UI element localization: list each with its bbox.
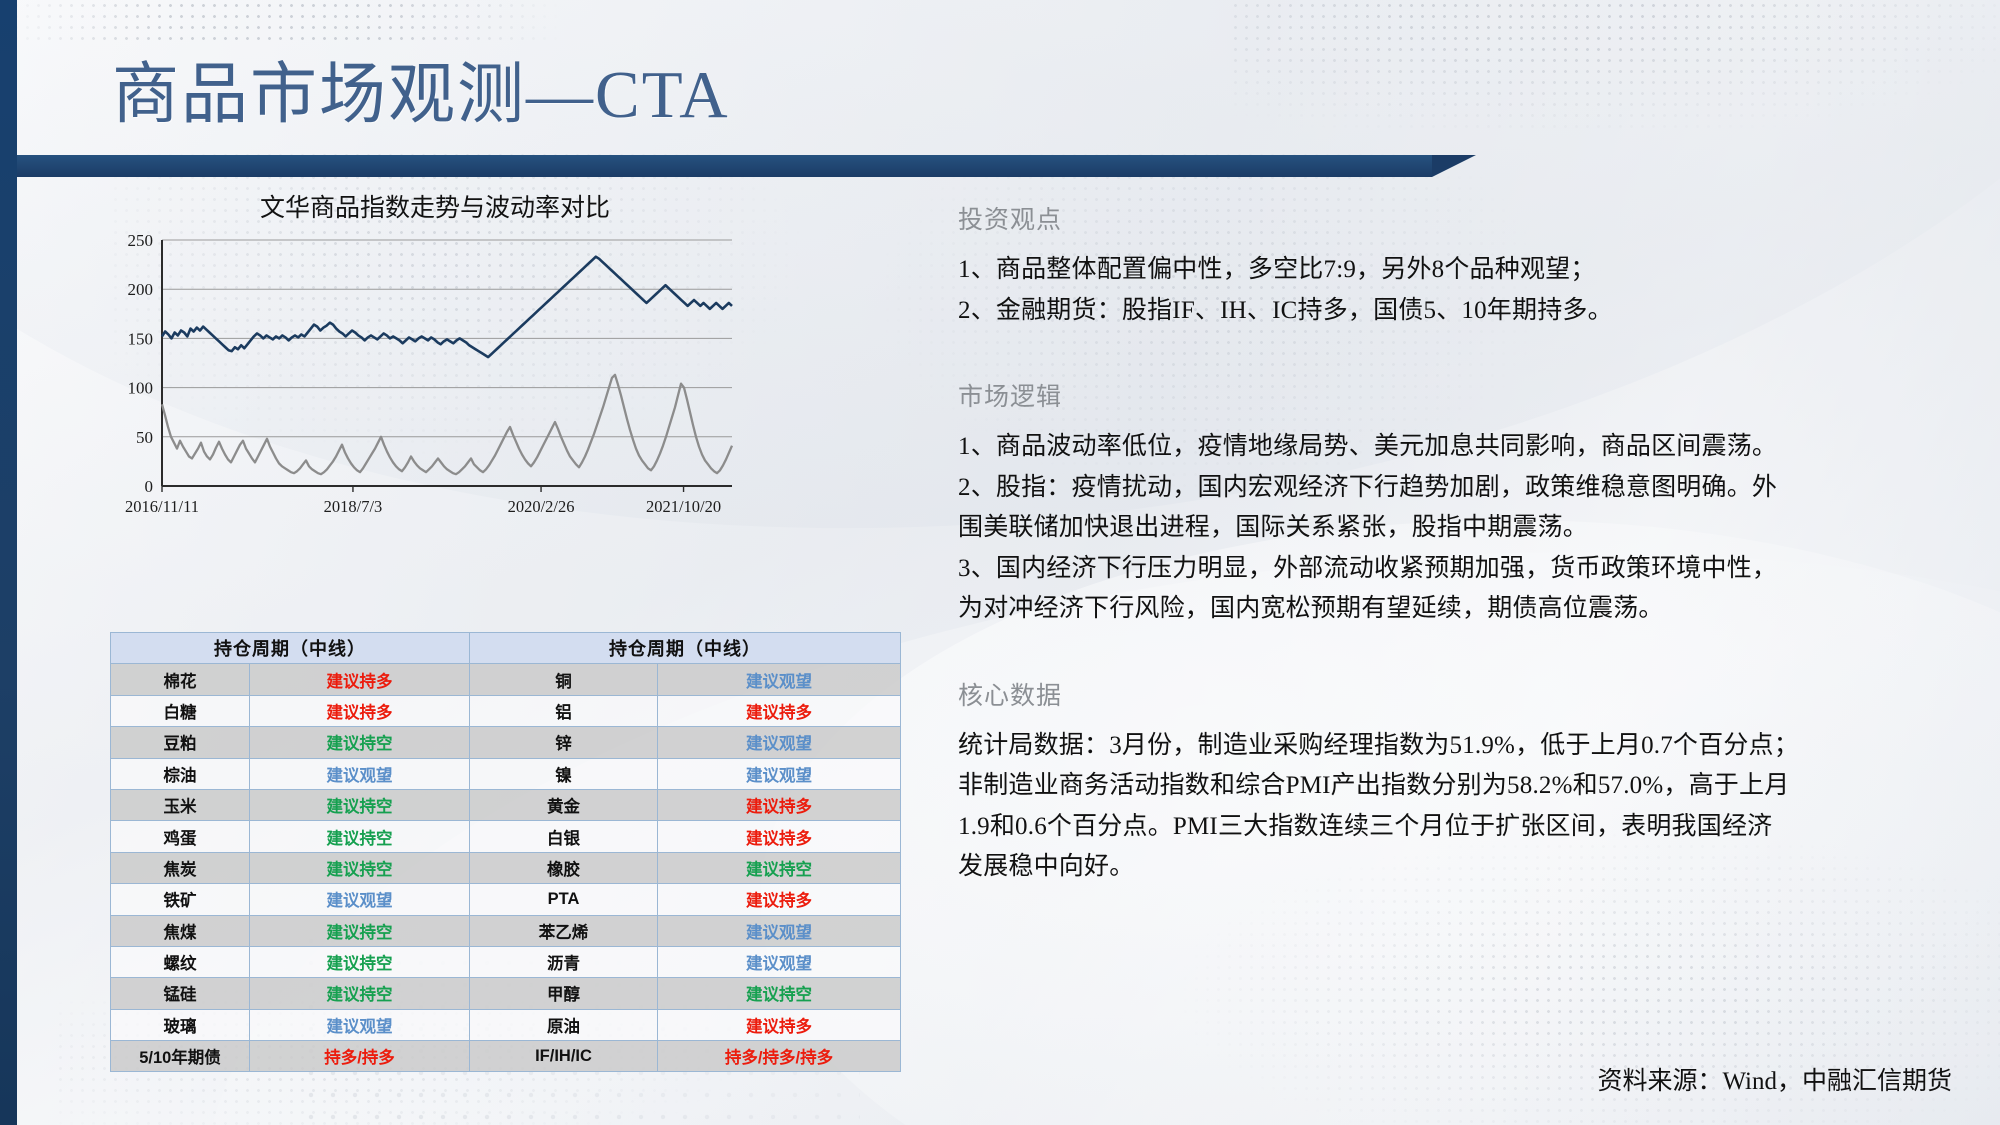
commentary-line: 发展稳中向好。	[958, 847, 1958, 888]
table-cell-product-left: 白糖	[111, 695, 250, 726]
table-row: 白糖建议持多铝建议持多	[111, 695, 901, 726]
chart-x-axis-labels: 2016/11/112018/7/32020/2/262021/10/20	[125, 497, 721, 516]
table-cell-product-right: 苯乙烯	[470, 915, 658, 946]
table-cell-product-left: 豆粕	[111, 727, 250, 758]
chart-y-axis-labels: 050100150200250	[128, 231, 154, 496]
table-cell-advice-left: 建议持空	[250, 915, 470, 946]
table-cell-product-left: 5/10年期债	[111, 1041, 250, 1072]
commentary-line: 2、股指：疫情扰动，国内宏观经济下行趋势加剧，政策维稳意图明确。外	[958, 468, 1958, 509]
table-row: 铁矿建议观望PTA建议持多	[111, 884, 901, 915]
commodity-index-chart: 文华商品指数走势与波动率对比 050100150200250 2016/11/1…	[100, 188, 740, 508]
table-cell-advice-left: 建议持多	[250, 664, 470, 695]
table-row: 螺纹建议持空沥青建议观望	[111, 946, 901, 977]
table-cell-product-right: 铝	[470, 695, 658, 726]
table-cell-product-right: 甲醇	[470, 978, 658, 1009]
table-header-left: 持仓周期（中线）	[111, 633, 470, 664]
table-cell-advice-right: 建议持多	[658, 821, 901, 852]
section-heading-market-logic: 市场逻辑	[958, 377, 1958, 413]
table-row: 棉花建议持多铜建议观望	[111, 664, 901, 695]
commentary-line: 3、国内经济下行压力明显，外部流动收紧预期加强，货币政策环境中性，	[958, 549, 1958, 590]
table-cell-advice-left: 建议持空	[250, 727, 470, 758]
chart-x-tick-label: 2016/11/11	[125, 497, 199, 516]
left-navy-spine	[0, 0, 17, 1125]
table-cell-advice-right: 建议观望	[658, 664, 901, 695]
chart-y-tick-label: 200	[128, 280, 154, 299]
table-cell-advice-right: 建议观望	[658, 758, 901, 789]
commentary-line: 非制造业商务活动指数和综合PMI产出指数分别为58.2%和57.0%，高于上月	[958, 766, 1958, 807]
table-cell-product-left: 铁矿	[111, 884, 250, 915]
commentary-line: 围美联储加快退出进程，国际关系紧张，股指中期震荡。	[958, 508, 1958, 549]
chart-title: 文华商品指数走势与波动率对比	[130, 188, 740, 224]
table-cell-advice-left: 持多/持多	[250, 1041, 470, 1072]
chart-y-tick-label: 0	[145, 477, 154, 496]
table-cell-advice-left: 建议持空	[250, 946, 470, 977]
section-body-investment-view: 1、商品整体配置偏中性，多空比7:9，另外8个品种观望；2、金融期货：股指IF、…	[958, 250, 1958, 331]
table-row: 玉米建议持空黄金建议持多	[111, 789, 901, 820]
table-cell-product-right: 锌	[470, 727, 658, 758]
table-header-right: 持仓周期（中线）	[470, 633, 901, 664]
chart-x-tick-label: 2018/7/3	[324, 497, 383, 516]
table-row: 焦炭建议持空橡胶建议持空	[111, 852, 901, 883]
table-header-row: 持仓周期（中线） 持仓周期（中线）	[111, 633, 901, 664]
table-cell-product-left: 棉花	[111, 664, 250, 695]
table-cell-advice-right: 建议持多	[658, 1009, 901, 1040]
table-cell-advice-right: 建议持空	[658, 978, 901, 1009]
table-cell-advice-right: 建议观望	[658, 727, 901, 758]
table-cell-advice-right: 持多/持多/持多	[658, 1041, 901, 1072]
table-cell-product-left: 螺纹	[111, 946, 250, 977]
chart-series-index	[162, 257, 732, 357]
chart-y-tick-label: 150	[128, 329, 154, 348]
table-cell-advice-right: 建议持多	[658, 789, 901, 820]
table-cell-advice-right: 建议持空	[658, 852, 901, 883]
chart-series-volatility	[162, 375, 732, 474]
section-heading-core-data: 核心数据	[958, 676, 1958, 712]
table-cell-advice-left: 建议持空	[250, 978, 470, 1009]
table-cell-product-right: IF/IH/IC	[470, 1041, 658, 1072]
section-heading-investment-view: 投资观点	[958, 200, 1958, 236]
section-body-market-logic: 1、商品波动率低位，疫情地缘局势、美元加息共同影响，商品区间震荡。2、股指：疫情…	[958, 427, 1958, 630]
spacer-2	[958, 630, 1958, 676]
table-cell-advice-right: 建议观望	[658, 915, 901, 946]
table-cell-product-right: PTA	[470, 884, 658, 915]
table-cell-product-left: 焦煤	[111, 915, 250, 946]
table-cell-product-left: 玉米	[111, 789, 250, 820]
chart-x-tick-label: 2020/2/26	[508, 497, 575, 516]
table-cell-advice-right: 建议观望	[658, 946, 901, 977]
source-note: 资料来源：Wind，中融汇信期货	[1597, 1061, 1952, 1097]
table-cell-product-right: 铜	[470, 664, 658, 695]
table-cell-product-left: 棕油	[111, 758, 250, 789]
table-cell-product-right: 沥青	[470, 946, 658, 977]
commentary-line: 1.9和0.6个百分点。PMI三大指数连续三个月位于扩张区间，表明我国经济	[958, 807, 1958, 848]
table-cell-advice-right: 建议持多	[658, 695, 901, 726]
chart-y-tick-label: 50	[136, 428, 153, 447]
table-body: 棉花建议持多铜建议观望白糖建议持多铝建议持多豆粕建议持空锌建议观望棕油建议观望镍…	[111, 664, 901, 1072]
table-cell-advice-left: 建议持多	[250, 695, 470, 726]
chart-plot-area: 050100150200250 2016/11/112018/7/32020/2…	[100, 228, 740, 528]
position-advice-table-wrapper: 持仓周期（中线） 持仓周期（中线） 棉花建议持多铜建议观望白糖建议持多铝建议持多…	[110, 632, 900, 1072]
table-cell-product-right: 镍	[470, 758, 658, 789]
table-cell-advice-right: 建议持多	[658, 884, 901, 915]
table-cell-product-left: 焦炭	[111, 852, 250, 883]
table-cell-product-left: 鸡蛋	[111, 821, 250, 852]
table-row: 锰硅建议持空甲醇建议持空	[111, 978, 901, 1009]
commentary-line: 2、金融期货：股指IF、IH、IC持多，国债5、10年期持多。	[958, 291, 1958, 332]
commentary-line: 1、商品整体配置偏中性，多空比7:9，另外8个品种观望；	[958, 250, 1958, 291]
chart-y-tick-label: 100	[128, 379, 154, 398]
position-advice-table: 持仓周期（中线） 持仓周期（中线） 棉花建议持多铜建议观望白糖建议持多铝建议持多…	[110, 632, 901, 1072]
table-cell-product-right: 橡胶	[470, 852, 658, 883]
table-cell-advice-left: 建议持空	[250, 789, 470, 820]
commentary-line: 为对冲经济下行风险，国内宽松预期有望延续，期债高位震荡。	[958, 589, 1958, 630]
table-cell-product-left: 锰硅	[111, 978, 250, 1009]
commentary-line: 1、商品波动率低位，疫情地缘局势、美元加息共同影响，商品区间震荡。	[958, 427, 1958, 468]
chart-x-tick-label: 2021/10/20	[646, 497, 721, 516]
table-cell-advice-left: 建议持空	[250, 852, 470, 883]
table-row: 焦煤建议持空苯乙烯建议观望	[111, 915, 901, 946]
table-cell-product-right: 白银	[470, 821, 658, 852]
section-body-core-data: 统计局数据：3月份，制造业采购经理指数为51.9%，低于上月0.7个百分点；非制…	[958, 726, 1958, 888]
table-cell-product-right: 黄金	[470, 789, 658, 820]
table-cell-advice-left: 建议观望	[250, 884, 470, 915]
commentary-panel: 投资观点 1、商品整体配置偏中性，多空比7:9，另外8个品种观望；2、金融期货：…	[958, 200, 1958, 888]
table-row: 豆粕建议持空锌建议观望	[111, 727, 901, 758]
table-cell-advice-left: 建议观望	[250, 1009, 470, 1040]
page-title: 商品市场观测—CTA	[112, 40, 730, 137]
table-row: 鸡蛋建议持空白银建议持多	[111, 821, 901, 852]
table-row: 玻璃建议观望原油建议持多	[111, 1009, 901, 1040]
spacer-1	[958, 331, 1958, 377]
commentary-line: 统计局数据：3月份，制造业采购经理指数为51.9%，低于上月0.7个百分点；	[958, 726, 1958, 767]
table-row: 5/10年期债持多/持多IF/IH/IC持多/持多/持多	[111, 1041, 901, 1072]
halftone-dots-top-right	[1230, 0, 2000, 130]
header-navy-bar	[0, 155, 1432, 177]
table-cell-advice-left: 建议持空	[250, 821, 470, 852]
table-cell-product-left: 玻璃	[111, 1009, 250, 1040]
table-cell-advice-left: 建议观望	[250, 758, 470, 789]
table-row: 棕油建议观望镍建议观望	[111, 758, 901, 789]
table-cell-product-right: 原油	[470, 1009, 658, 1040]
chart-y-tick-label: 250	[128, 231, 154, 250]
